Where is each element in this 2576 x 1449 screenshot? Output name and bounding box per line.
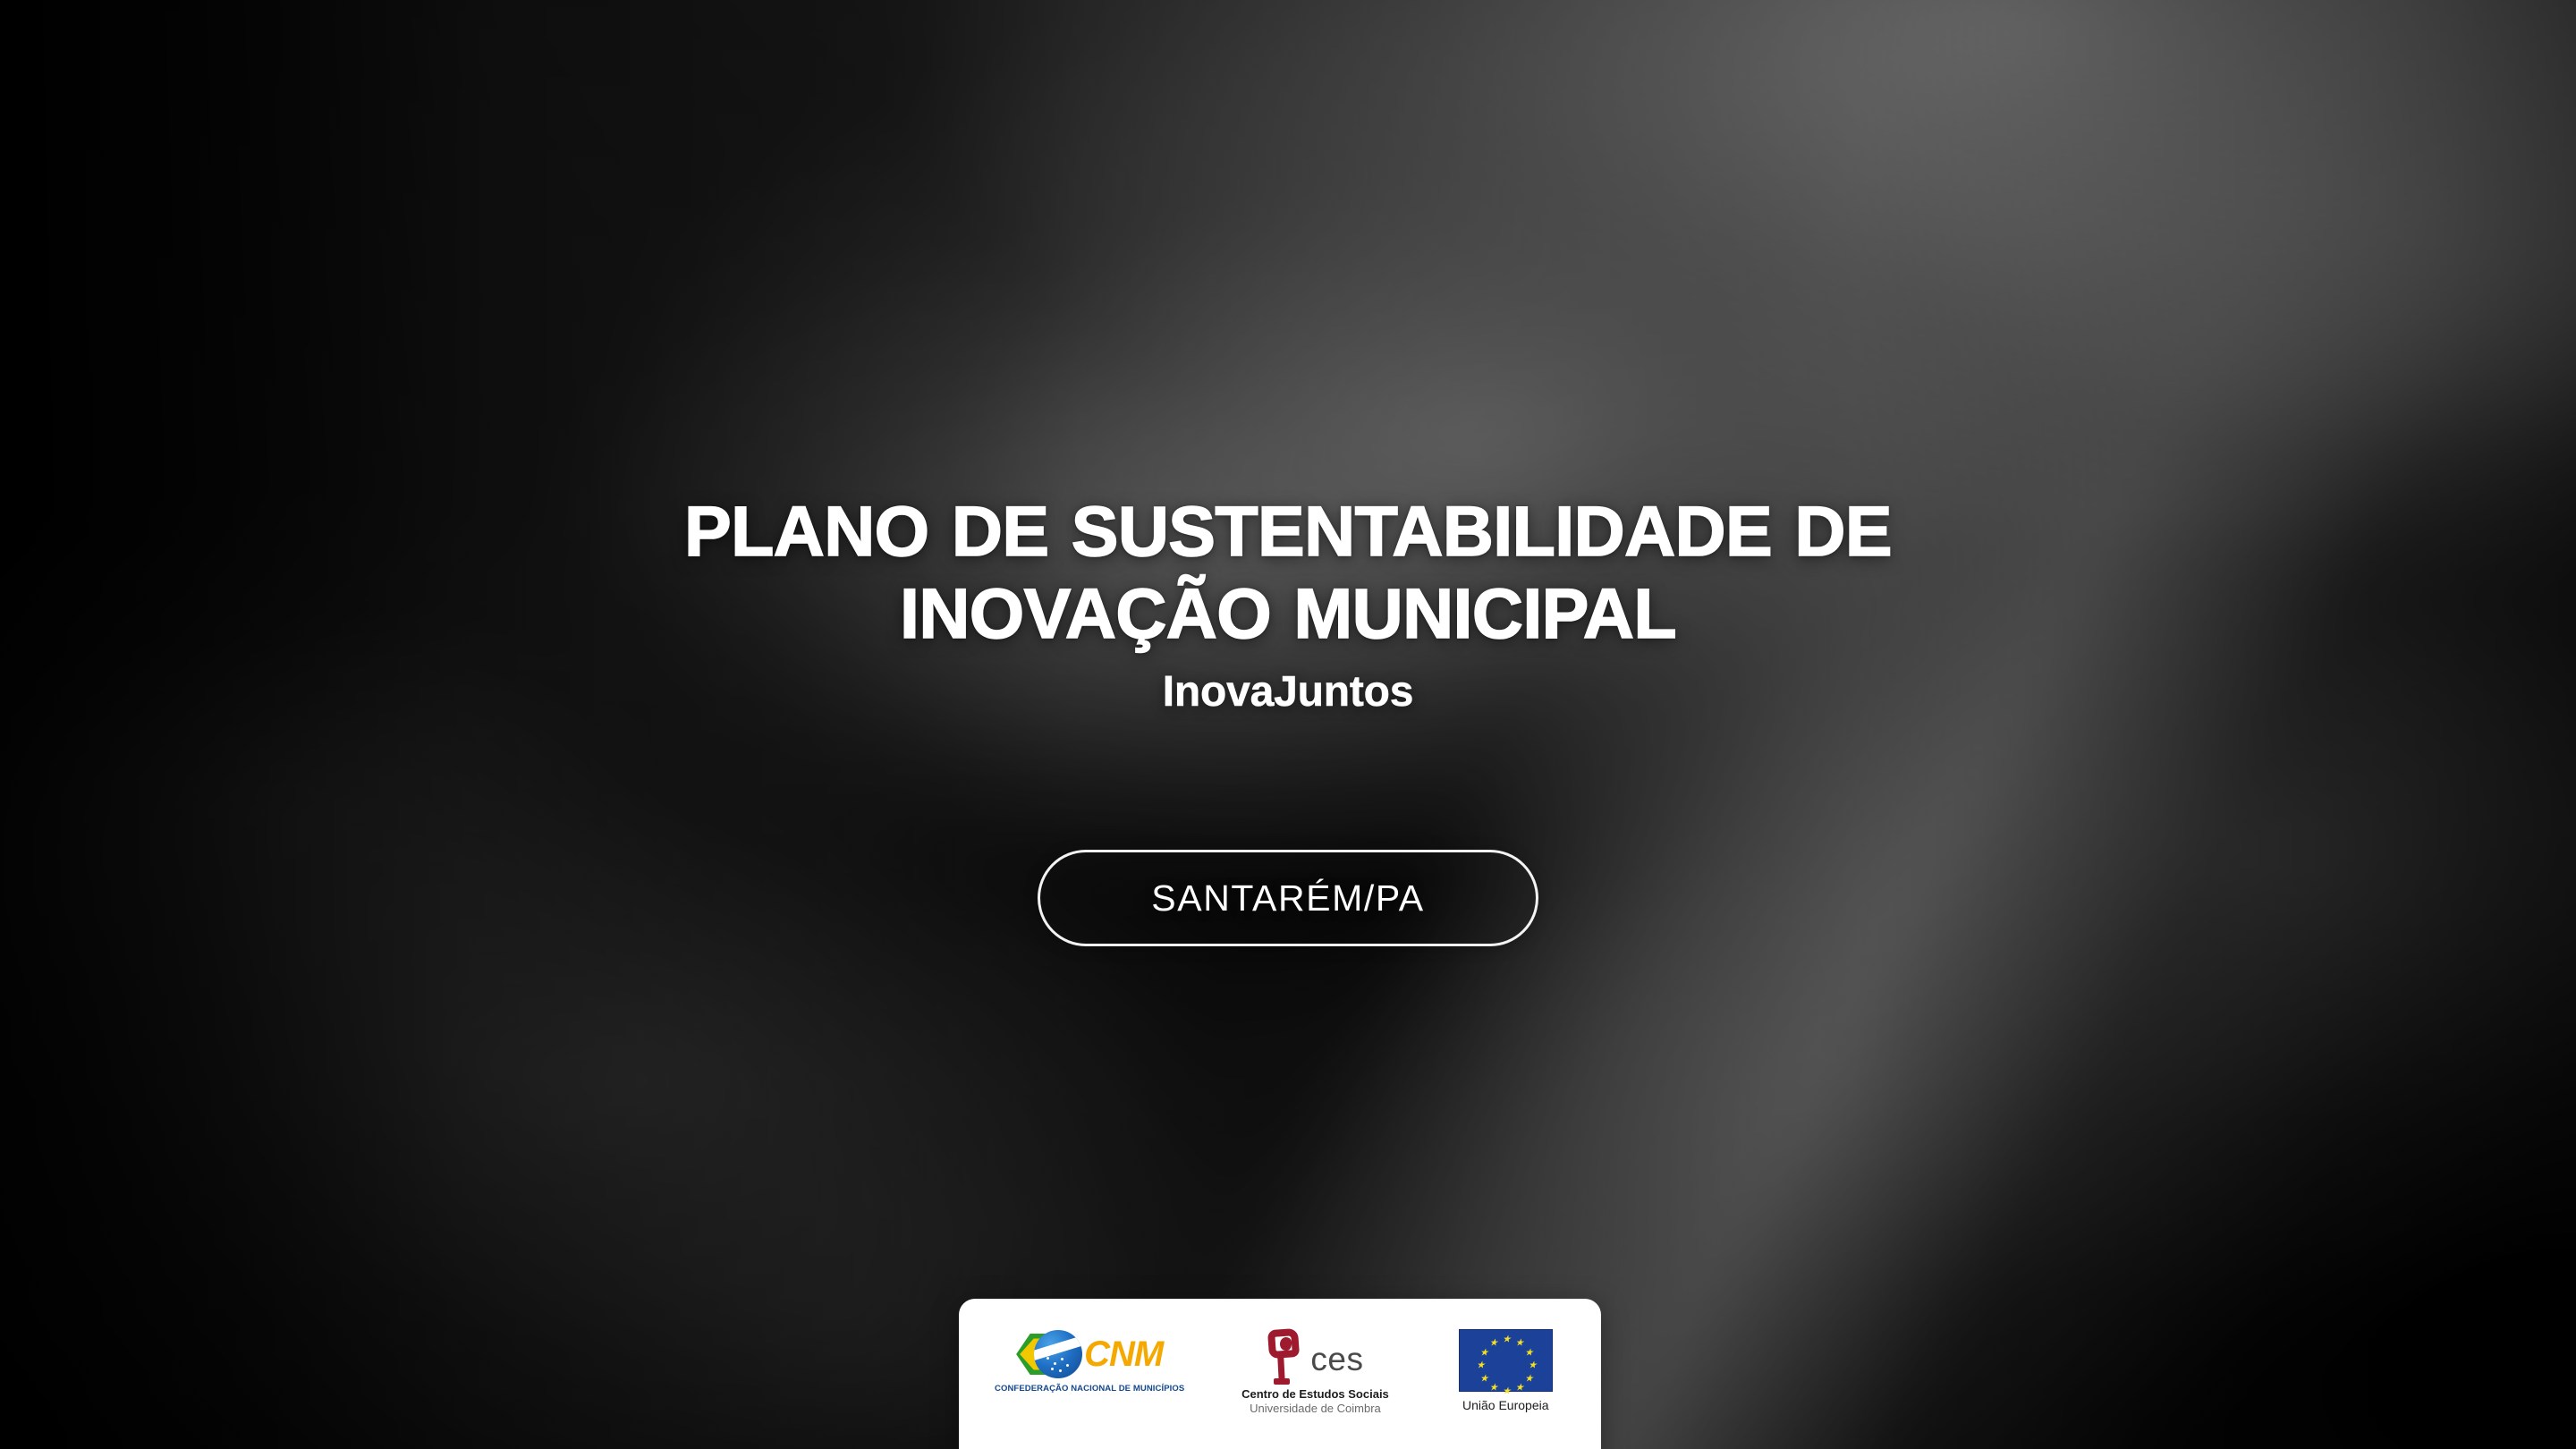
brazil-flag-globe-icon xyxy=(1016,1330,1082,1378)
headline-line-2: INOVAÇÃO MUNICIPAL xyxy=(394,572,2182,655)
headline-line-1: PLANO DE SUSTENTABILIDADE DE xyxy=(394,490,2182,572)
location-badge[interactable]: SANTARÉM/PA xyxy=(1038,850,1538,946)
logo-cnm[interactable]: CNM CONFEDERAÇÃO NACIONAL DE MUNICÍPIOS xyxy=(995,1329,1184,1394)
ces-wordmark: ces xyxy=(1310,1343,1363,1376)
cnm-caption: CONFEDERAÇÃO NACIONAL DE MUNICÍPIOS xyxy=(995,1384,1184,1394)
logo-european-union[interactable]: União Europeia xyxy=(1446,1329,1565,1412)
program-subtitle: InovaJuntos xyxy=(394,666,2182,718)
european-union-flag-icon xyxy=(1459,1329,1553,1392)
ces-key-glyph-icon xyxy=(1267,1329,1304,1385)
slide-content: PLANO DE SUSTENTABILIDADE DE INOVAÇÃO MU… xyxy=(0,0,2576,1449)
title-block: PLANO DE SUSTENTABILIDADE DE INOVAÇÃO MU… xyxy=(394,490,2182,718)
ces-caption-line-1: Centro de Estudos Sociais xyxy=(1241,1387,1389,1401)
ces-mark: ces xyxy=(1267,1329,1363,1385)
european-union-caption: União Europeia xyxy=(1462,1398,1549,1412)
cover-slide: PLANO DE SUSTENTABILIDADE DE INOVAÇÃO MU… xyxy=(0,0,2576,1449)
partner-logo-card: CNM CONFEDERAÇÃO NACIONAL DE MUNICÍPIOS … xyxy=(959,1299,1601,1449)
location-badge-row: SANTARÉM/PA xyxy=(0,850,2576,946)
cnm-wordmark: CNM xyxy=(1084,1336,1163,1372)
cnm-mark: CNM xyxy=(1016,1329,1163,1379)
logo-ces[interactable]: ces Centro de Estudos Sociais Universida… xyxy=(1225,1329,1404,1415)
ces-caption-line-2: Universidade de Coimbra xyxy=(1250,1402,1381,1415)
